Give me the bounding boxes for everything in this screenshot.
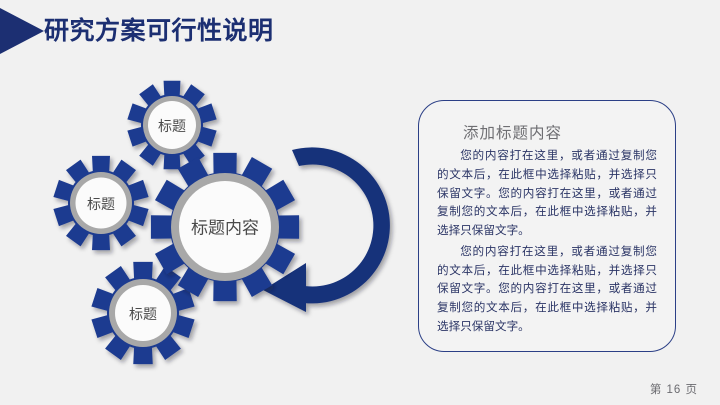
page-title: 研究方案可行性说明 [44, 12, 274, 50]
gear-left-label: 标题 [87, 196, 115, 212]
gear-diagram: 标题 标题 标题 [20, 78, 420, 378]
gear-diagram-svg: 标题 标题 标题 [20, 78, 420, 378]
triangle-right-icon [0, 8, 44, 54]
gear-top-label: 标题 [158, 118, 186, 134]
gear-bottom[interactable]: 标题 [91, 262, 194, 364]
page-number: 第 16 页 [650, 381, 698, 397]
gear-center-label: 标题内容 [191, 219, 259, 238]
gear-bottom-label: 标题 [129, 306, 157, 322]
gear-left[interactable]: 标题 [53, 156, 148, 250]
gear-top[interactable]: 标题 [127, 81, 216, 169]
slide-canvas: 研究方案可行性说明 标题 [0, 0, 720, 405]
content-card: 添加标题内容 您的内容打在这里，或者通过复制您的文本后，在此框中选择粘贴，并选择… [418, 100, 676, 352]
card-title: 添加标题内容 [463, 121, 657, 143]
card-paragraph: 您的内容打在这里，或者通过复制您的文本后，在此框中选择粘贴，并选择只保留文字。您… [437, 243, 657, 337]
slide-header: 研究方案可行性说明 [0, 0, 720, 62]
card-paragraph: 您的内容打在这里，或者通过复制您的文本后，在此框中选择粘贴，并选择只保留文字。您… [437, 147, 657, 241]
